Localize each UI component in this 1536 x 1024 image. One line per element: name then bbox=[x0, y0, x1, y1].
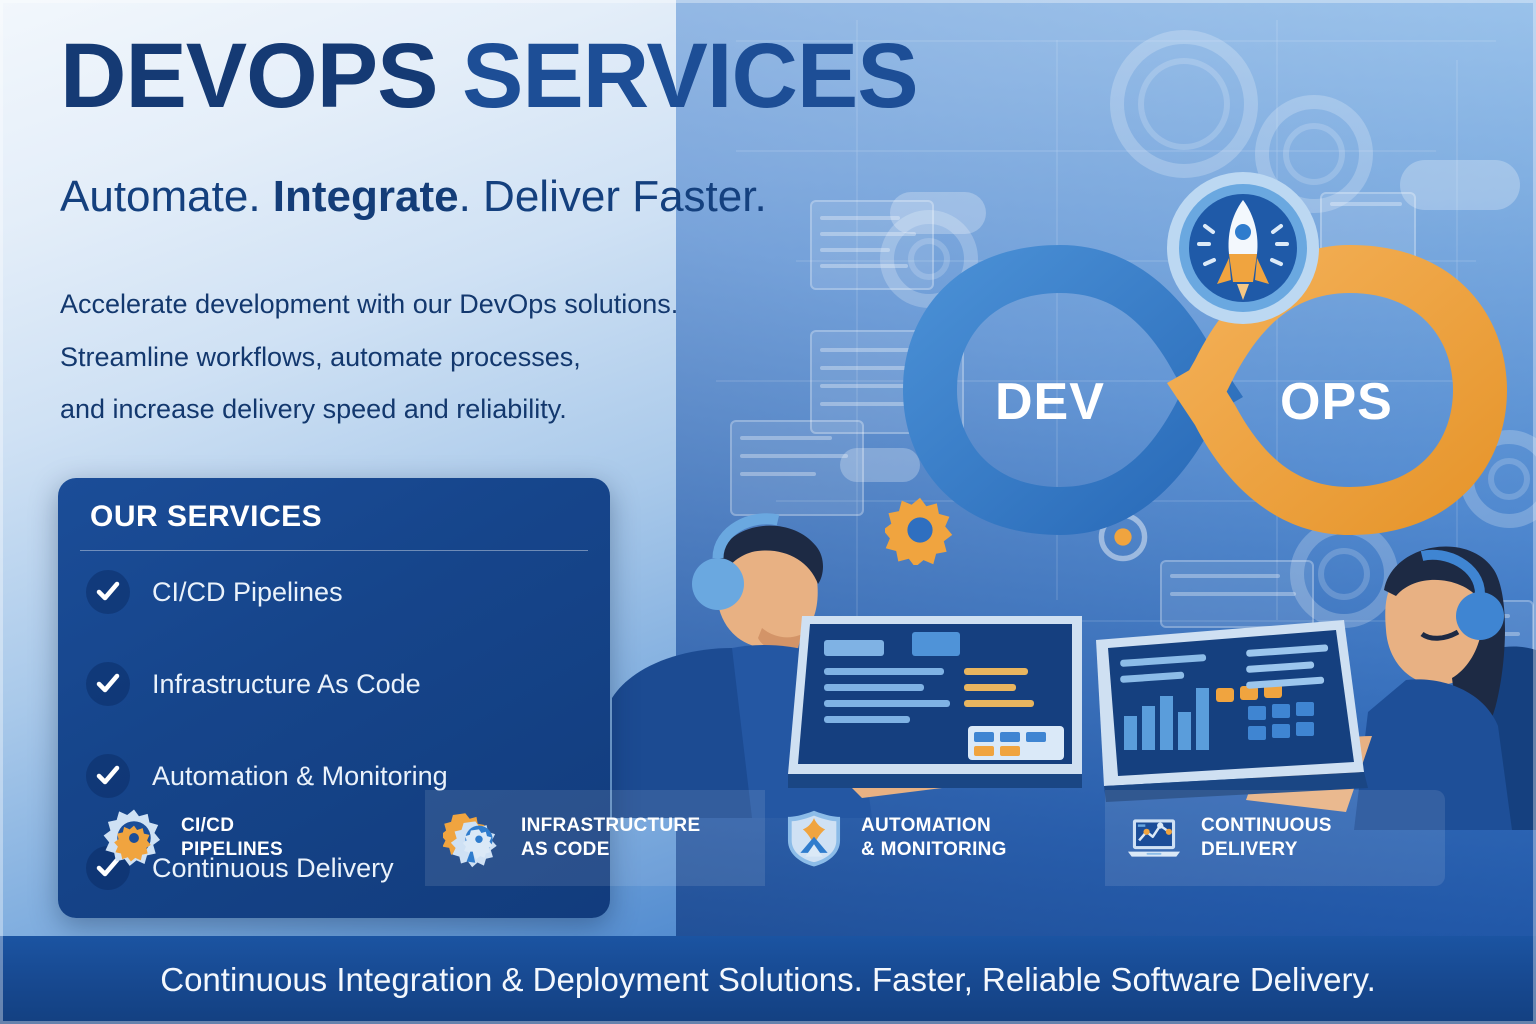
feature-chip-continuous-delivery[interactable]: CONTINUOUSDELIVERY bbox=[1105, 790, 1445, 886]
feature-chip-infrastructure-as-code[interactable]: INFRASTRUCTUREAS CODE bbox=[425, 790, 765, 886]
devops-services-poster: DEV OPS bbox=[0, 0, 1536, 1024]
feature-chip-label: AUTOMATION& MONITORING bbox=[861, 814, 1007, 862]
gear-icon bbox=[103, 807, 165, 869]
tagline: Automate. Integrate. Deliver Faster. bbox=[60, 172, 767, 222]
tagline-part1: Automate. bbox=[60, 172, 273, 221]
infinity-ops-label: OPS bbox=[1280, 372, 1393, 432]
double-gear-icon bbox=[443, 807, 505, 869]
description-paragraph: Accelerate development with our DevOps s… bbox=[60, 278, 678, 436]
feature-chip-label: CI/CDPIPELINES bbox=[181, 814, 283, 862]
check-icon bbox=[86, 570, 130, 614]
female-engineer-illustration bbox=[1096, 500, 1536, 830]
footer-text: Continuous Integration & Deployment Solu… bbox=[160, 961, 1376, 999]
description-line-1: Accelerate development with our DevOps s… bbox=[60, 278, 678, 331]
panel-title: OUR SERVICES bbox=[90, 500, 322, 534]
shield-icon bbox=[783, 807, 845, 869]
description-line-3: and increase delivery speed and reliabil… bbox=[60, 383, 678, 436]
service-item-infrastructure-as-code[interactable]: Infrastructure As Code bbox=[86, 662, 421, 706]
description-line-2: Streamline workflows, automate processes… bbox=[60, 331, 678, 384]
background-gear-icon bbox=[1110, 30, 1258, 178]
tagline-emphasis: Integrate bbox=[273, 172, 459, 221]
service-item-cicd-pipelines[interactable]: CI/CD Pipelines bbox=[86, 570, 343, 614]
feature-chip-cicd-pipelines[interactable]: CI/CDPIPELINES bbox=[85, 790, 425, 886]
footer-banner: Continuous Integration & Deployment Solu… bbox=[0, 936, 1536, 1024]
laptop-chart-icon bbox=[1123, 807, 1185, 869]
title-devops: DEVOPS bbox=[60, 25, 437, 127]
page-title: DEVOPS SERVICES bbox=[60, 30, 918, 122]
tagline-part2: . Deliver Faster. bbox=[459, 172, 767, 221]
rocket-gauge-icon bbox=[1163, 168, 1323, 328]
male-engineer-illustration bbox=[612, 488, 1082, 818]
title-services: SERVICES bbox=[462, 25, 918, 127]
service-item-label: CI/CD Pipelines bbox=[152, 577, 343, 608]
feature-chip-automation-monitoring[interactable]: AUTOMATION& MONITORING bbox=[765, 790, 1105, 886]
infinity-dev-label: DEV bbox=[995, 372, 1105, 432]
panel-divider bbox=[80, 550, 588, 551]
feature-chip-label: INFRASTRUCTUREAS CODE bbox=[521, 814, 700, 862]
service-item-label: Infrastructure As Code bbox=[152, 669, 421, 700]
feature-chip-strip: CI/CDPIPELINES INFRASTRUCTUREAS CODE bbox=[85, 790, 1445, 886]
feature-chip-label: CONTINUOUSDELIVERY bbox=[1201, 814, 1332, 862]
background-cloud-icon bbox=[1400, 160, 1520, 210]
check-icon bbox=[86, 662, 130, 706]
service-item-label: Automation & Monitoring bbox=[152, 761, 448, 792]
